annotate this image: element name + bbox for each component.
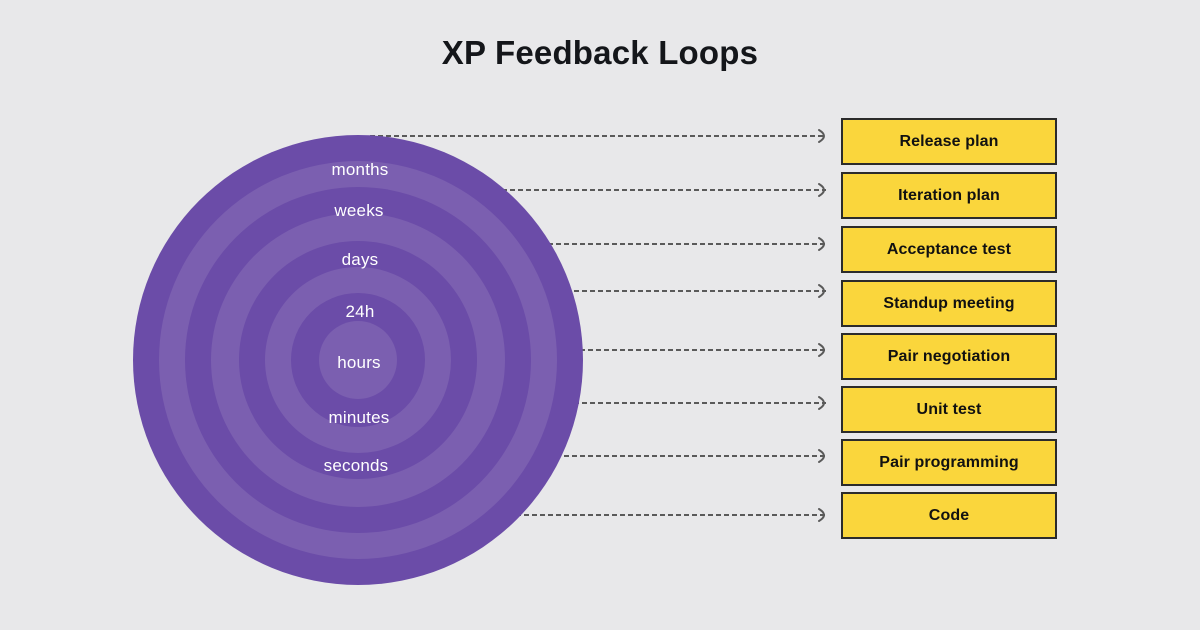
ring-label-seconds: seconds xyxy=(324,456,389,476)
practice-box-iteration-plan[interactable]: Iteration plan xyxy=(841,172,1057,219)
arrowhead-icon xyxy=(819,130,824,142)
practice-box-label: Standup meeting xyxy=(883,295,1014,313)
practice-box-pair-programming[interactable]: Pair programming xyxy=(841,439,1057,486)
arrowhead-icon xyxy=(819,285,824,297)
arrowhead-icon xyxy=(819,344,824,356)
practice-box-pair-negotiation[interactable]: Pair negotiation xyxy=(841,333,1057,380)
arrowhead-icon xyxy=(819,509,824,521)
feedback-loop-rings: monthsweeksdays24hhoursminutesseconds xyxy=(0,0,700,630)
practice-box-label: Pair programming xyxy=(879,454,1018,472)
practice-box-label: Code xyxy=(929,507,969,525)
practice-box-code[interactable]: Code xyxy=(841,492,1057,539)
ring-label-24h: 24h xyxy=(346,302,375,322)
arrowhead-icon xyxy=(819,450,824,462)
practice-box-label: Release plan xyxy=(899,133,998,151)
diagram-page: XP Feedback Loops monthsweeksdays24hhour… xyxy=(0,0,1200,630)
ring-label-hours: hours xyxy=(337,353,381,373)
practice-box-unit-test[interactable]: Unit test xyxy=(841,386,1057,433)
ring-label-months: months xyxy=(332,160,389,180)
practice-box-label: Acceptance test xyxy=(887,241,1011,259)
arrowhead-icon xyxy=(819,184,824,196)
practice-box-label: Unit test xyxy=(917,401,982,419)
practice-box-label: Iteration plan xyxy=(898,187,1000,205)
practice-box-label: Pair negotiation xyxy=(888,348,1011,366)
practice-box-release-plan[interactable]: Release plan xyxy=(841,118,1057,165)
ring-label-minutes: minutes xyxy=(329,408,390,428)
practice-box-standup-meeting[interactable]: Standup meeting xyxy=(841,280,1057,327)
arrowhead-icon xyxy=(819,397,824,409)
arrowhead-icon xyxy=(819,238,824,250)
practice-box-acceptance-test[interactable]: Acceptance test xyxy=(841,226,1057,273)
ring-label-weeks: weeks xyxy=(334,201,383,221)
ring-label-days: days xyxy=(342,250,379,270)
practice-box-list: Release planIteration planAcceptance tes… xyxy=(841,0,1057,630)
